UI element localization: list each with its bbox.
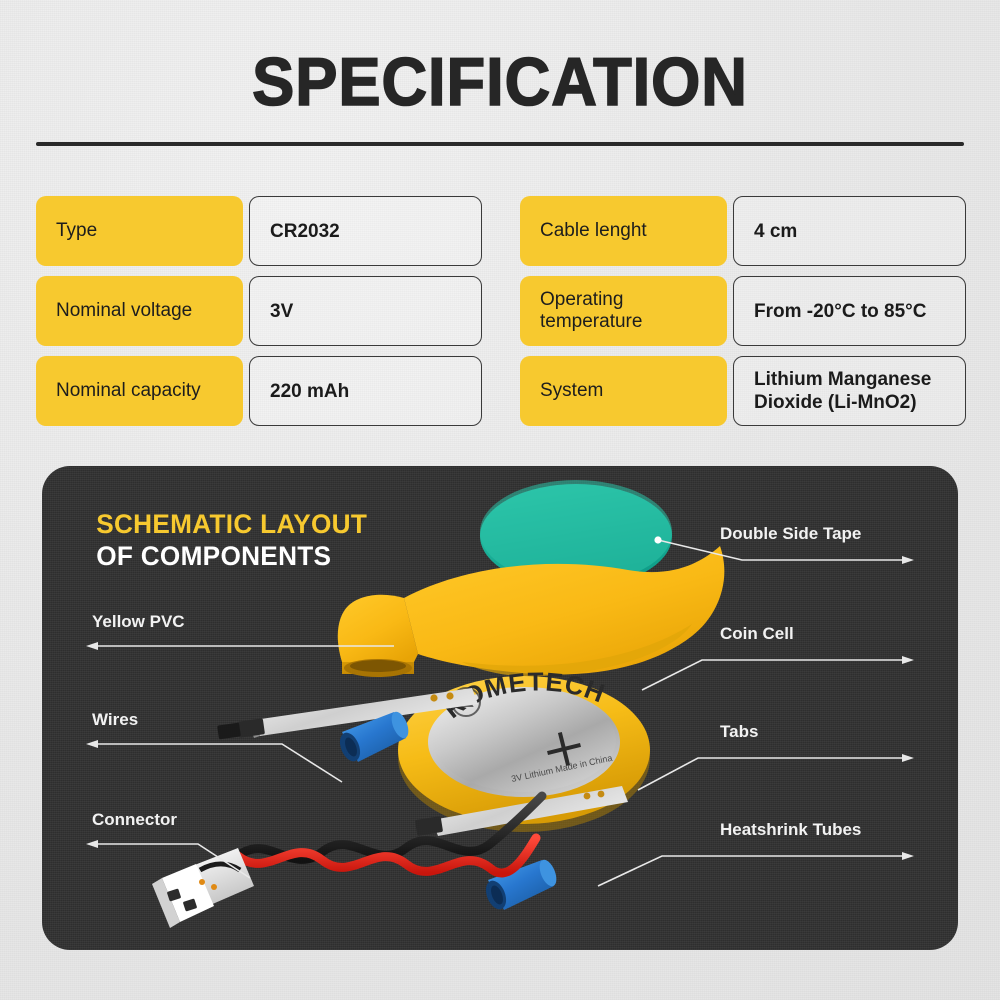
- callout-tabs: Tabs: [720, 722, 758, 742]
- spec-label-cable-length: Cable lenght: [520, 196, 727, 266]
- spec-value-nominal-voltage: 3V: [249, 276, 482, 346]
- spec-row-operating-temperature: Operating temperature From -20°C to 85°C: [520, 276, 966, 346]
- spec-row-cable-length: Cable lenght 4 cm: [520, 196, 966, 266]
- spec-label-nominal-voltage: Nominal voltage: [36, 276, 243, 346]
- spec-row-system: System Lithium Manganese Dioxide (Li-MnO…: [520, 356, 966, 426]
- yellow-pvc-part: [338, 546, 725, 677]
- callout-wires: Wires: [92, 710, 138, 730]
- spec-column-left: Type CR2032 Nominal voltage 3V Nominal c…: [36, 196, 482, 426]
- spec-row-nominal-voltage: Nominal voltage 3V: [36, 276, 482, 346]
- callout-double-side-tape: Double Side Tape: [720, 524, 861, 544]
- spec-label-system: System: [520, 356, 727, 426]
- spec-value-system: Lithium Manganese Dioxide (Li-MnO2): [733, 356, 966, 426]
- callout-coin-cell: Coin Cell: [720, 624, 794, 644]
- spec-value-cable-length: 4 cm: [733, 196, 966, 266]
- spec-value-operating-temperature: From -20°C to 85°C: [733, 276, 966, 346]
- schematic-panel: SCHEMATIC LAYOUT OF COMPONENTS: [42, 466, 958, 950]
- callout-yellow-pvc: Yellow PVC: [92, 612, 185, 632]
- callout-heatshrink-tubes: Heatshrink Tubes: [720, 820, 861, 840]
- spec-label-type: Type: [36, 196, 243, 266]
- title-divider: [36, 142, 964, 146]
- specification-table: Type CR2032 Nominal voltage 3V Nominal c…: [36, 196, 966, 426]
- page-title: SPECIFICATION: [35, 46, 965, 118]
- spec-label-operating-temperature: Operating temperature: [520, 276, 727, 346]
- spec-value-nominal-capacity: 220 mAh: [249, 356, 482, 426]
- spec-value-type: CR2032: [249, 196, 482, 266]
- spec-column-right: Cable lenght 4 cm Operating temperature …: [520, 196, 966, 426]
- spec-label-nominal-capacity: Nominal capacity: [36, 356, 243, 426]
- connector-part: [152, 848, 254, 928]
- callout-connector: Connector: [92, 810, 177, 830]
- spec-row-nominal-capacity: Nominal capacity 220 mAh: [36, 356, 482, 426]
- spec-row-type: Type CR2032: [36, 196, 482, 266]
